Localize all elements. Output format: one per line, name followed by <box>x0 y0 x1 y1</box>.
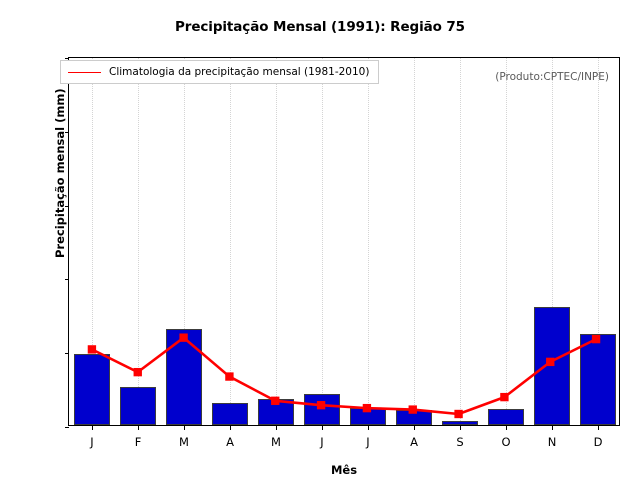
x-tick-label-j-5: J <box>302 435 342 449</box>
x-tick-label-j-6: J <box>348 435 388 449</box>
x-tick-mark <box>552 425 553 430</box>
x-tick-label-j-0: J <box>72 435 112 449</box>
y-tick-mark <box>65 58 70 59</box>
x-tick-mark <box>230 425 231 430</box>
x-tick-mark <box>598 425 599 430</box>
x-tick-label-n-10: N <box>532 435 572 449</box>
x-tick-label-a-3: A <box>210 435 250 449</box>
x-tick-label-s-8: S <box>440 435 480 449</box>
bar-f-1 <box>120 387 156 425</box>
x-tick-label-f-1: F <box>118 435 158 449</box>
gridline-vertical <box>460 58 461 425</box>
plot-area: Precipitação mensal (mm) 010020030040050… <box>68 57 620 426</box>
y-tick-mark <box>65 132 70 133</box>
chart-legend: Climatologia da precipitação mensal (198… <box>60 60 379 84</box>
y-tick-mark <box>65 206 70 207</box>
x-tick-mark <box>506 425 507 430</box>
climatology-marker-o-9 <box>500 393 508 401</box>
bar-m-4 <box>258 399 294 425</box>
climatology-marker-s-8 <box>454 410 462 418</box>
x-tick-mark <box>322 425 323 430</box>
legend-line-swatch <box>68 72 101 73</box>
gridline-vertical <box>322 58 323 425</box>
bar-n-10 <box>534 307 570 425</box>
bar-o-9 <box>488 409 524 425</box>
gridline-vertical <box>368 58 369 425</box>
gridline-vertical <box>230 58 231 425</box>
bar-j-5 <box>304 394 340 425</box>
x-tick-mark <box>138 425 139 430</box>
x-tick-mark <box>460 425 461 430</box>
x-axis-label: Mês <box>68 463 620 477</box>
gridline-vertical <box>414 58 415 425</box>
y-axis-label: Precipitação mensal (mm) <box>53 88 67 258</box>
y-tick-mark <box>65 353 70 354</box>
bar-m-2 <box>166 329 202 425</box>
y-tick-mark <box>65 279 70 280</box>
x-tick-label-a-7: A <box>394 435 434 449</box>
producer-annotation: (Produto:CPTEC/INPE) <box>495 71 609 83</box>
x-tick-label-m-2: M <box>164 435 204 449</box>
gridline-vertical <box>276 58 277 425</box>
x-tick-mark <box>414 425 415 430</box>
x-tick-mark <box>92 425 93 430</box>
bar-j-6 <box>350 408 386 425</box>
gridline-vertical <box>506 58 507 425</box>
bar-d-11 <box>580 334 616 426</box>
bar-a-3 <box>212 403 248 425</box>
x-tick-mark <box>184 425 185 430</box>
bar-j-0 <box>74 354 110 425</box>
legend-item-label: Climatologia da precipitação mensal (198… <box>109 66 369 78</box>
chart-figure: Precipitação Mensal (1991): Região 75 Pr… <box>0 0 640 500</box>
y-tick-mark <box>65 427 70 428</box>
x-tick-label-o-9: O <box>486 435 526 449</box>
x-tick-label-m-4: M <box>256 435 296 449</box>
chart-title: Precipitação Mensal (1991): Região 75 <box>0 19 640 35</box>
gridline-vertical <box>138 58 139 425</box>
x-tick-label-d-11: D <box>578 435 618 449</box>
x-tick-mark <box>368 425 369 430</box>
plot-inner <box>69 58 619 425</box>
bar-a-7 <box>396 410 432 425</box>
x-tick-mark <box>276 425 277 430</box>
